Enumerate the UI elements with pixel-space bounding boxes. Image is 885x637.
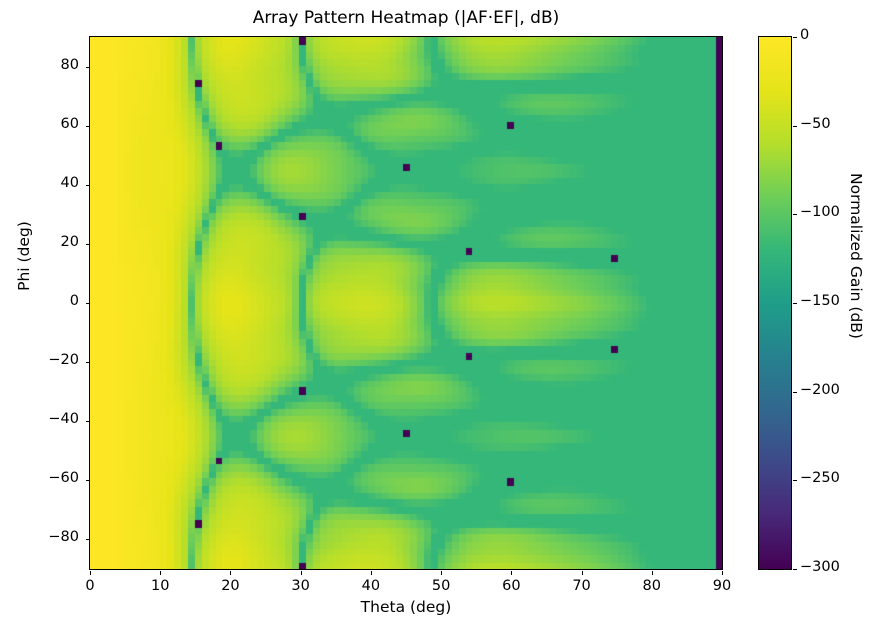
colorbar-tick-mark bbox=[793, 37, 797, 38]
colorbar-tick-label: −300 bbox=[800, 559, 840, 575]
x-tick-mark bbox=[371, 571, 372, 575]
y-tick-mark bbox=[86, 480, 90, 481]
x-tick-mark bbox=[230, 571, 231, 575]
x-tick-mark bbox=[722, 571, 723, 575]
colorbar-tick-label: 0 bbox=[800, 27, 809, 43]
colorbar-tick-label: −250 bbox=[800, 470, 840, 486]
colorbar-tick-mark bbox=[793, 569, 797, 570]
heatmap-axes[interactable]: 0102030405060708090 −80−60−40−2002040608… bbox=[89, 36, 723, 570]
y-tick-mark bbox=[86, 244, 90, 245]
x-tick-label: 20 bbox=[200, 578, 260, 594]
x-tick-label: 90 bbox=[692, 578, 752, 594]
colorbar-tick-label: −150 bbox=[800, 293, 840, 309]
y-tick-label: −60 bbox=[19, 470, 79, 486]
y-tick-label: −40 bbox=[19, 411, 79, 427]
colorbar-gradient bbox=[759, 37, 791, 569]
x-tick-mark bbox=[160, 571, 161, 575]
x-tick-label: 80 bbox=[622, 578, 682, 594]
x-tick-label: 30 bbox=[271, 578, 331, 594]
colorbar-tick-mark bbox=[793, 214, 797, 215]
colorbar-tick-label: −100 bbox=[800, 204, 840, 220]
x-tick-mark bbox=[90, 571, 91, 575]
x-tick-label: 0 bbox=[60, 578, 120, 594]
colorbar-tick-label: −50 bbox=[800, 116, 831, 132]
y-tick-label: 60 bbox=[19, 116, 79, 132]
colorbar-tick-label: −200 bbox=[800, 382, 840, 398]
x-tick-mark bbox=[441, 571, 442, 575]
x-tick-mark bbox=[301, 571, 302, 575]
colorbar-tick-mark bbox=[793, 480, 797, 481]
figure-canvas: Array Pattern Heatmap (|AF·EF|, dB) 0102… bbox=[0, 0, 885, 637]
x-tick-mark bbox=[511, 571, 512, 575]
y-tick-mark bbox=[86, 539, 90, 540]
colorbar-label: Normalized Gain (dB) bbox=[847, 136, 865, 376]
colorbar-axes[interactable]: 0−50−100−150−200−250−300 bbox=[758, 36, 792, 570]
x-tick-label: 70 bbox=[552, 578, 612, 594]
y-tick-mark bbox=[86, 362, 90, 363]
x-tick-mark bbox=[582, 571, 583, 575]
x-tick-mark bbox=[652, 571, 653, 575]
x-tick-label: 50 bbox=[411, 578, 471, 594]
colorbar-tick-mark bbox=[793, 392, 797, 393]
x-tick-label: 40 bbox=[341, 578, 401, 594]
heatmap-image[interactable] bbox=[90, 37, 722, 569]
y-axis-label: Phi (deg) bbox=[15, 136, 33, 376]
colorbar-tick-mark bbox=[793, 126, 797, 127]
y-tick-mark bbox=[86, 303, 90, 304]
y-tick-mark bbox=[86, 67, 90, 68]
x-tick-label: 10 bbox=[130, 578, 190, 594]
y-tick-mark bbox=[86, 421, 90, 422]
x-axis-label: Theta (deg) bbox=[89, 598, 723, 616]
colorbar-tick-mark bbox=[793, 303, 797, 304]
y-tick-label: 80 bbox=[19, 57, 79, 73]
y-tick-mark bbox=[86, 185, 90, 186]
page-title: Array Pattern Heatmap (|AF·EF|, dB) bbox=[89, 8, 723, 28]
y-tick-mark bbox=[86, 126, 90, 127]
y-tick-label: −80 bbox=[19, 529, 79, 545]
x-tick-label: 60 bbox=[481, 578, 541, 594]
